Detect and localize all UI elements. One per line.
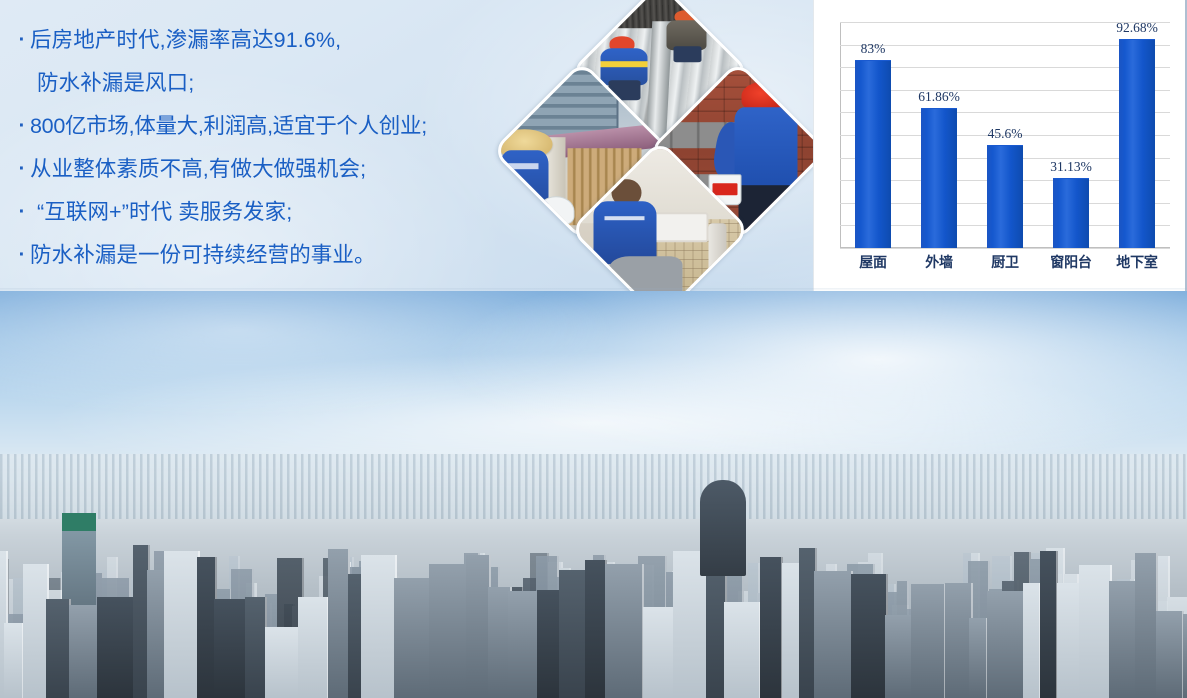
bar[interactable] [1119,39,1155,248]
building [987,591,1025,698]
building [394,578,432,698]
bullet-dot-icon: · [14,193,30,232]
building [643,607,676,698]
bar-value-label: 92.68% [1116,20,1158,36]
building [466,555,491,698]
building [559,570,588,698]
leak-rate-bar-chart: 83%61.86%45.6%31.13%92.68% 屋面外墙厨卫窗阳台地下室 [813,0,1187,291]
bullet-text: 从业整体素质不高,有做大做强机会; [30,150,366,189]
building [1040,551,1058,698]
building [814,571,853,698]
bar-series: 83%61.86%45.6%31.13%92.68% [840,22,1170,248]
building [1023,583,1041,698]
x-tick-label: 厨卫 [972,252,1038,272]
building [328,549,350,698]
bullet-text: 后房地产时代,渗漏率高达91.6%, [30,21,341,60]
x-axis-tick-labels: 屋面外墙厨卫窗阳台地下室 [840,252,1170,272]
building [265,627,300,698]
building [760,557,783,698]
building [605,564,644,698]
chart-plot-area: 83%61.86%45.6%31.13%92.68% [840,22,1170,248]
building [782,563,801,698]
bullet-spacer: · [14,64,30,103]
bar-value-label: 83% [861,41,886,57]
bar[interactable] [987,145,1023,248]
list-item-continuation: · 防水补漏是风口; [14,64,519,103]
bullet-dot-icon: · [14,236,30,275]
building [1135,553,1158,698]
bar-slot[interactable]: 45.6% [972,22,1038,248]
building [508,591,540,698]
bar-slot[interactable]: 92.68% [1104,22,1170,248]
skyline-near-layer [0,535,1187,698]
gridline [840,248,1170,249]
list-item: · 800亿市场,体量大,利润高,适宜于个人创业; [14,107,519,146]
bullet-text: 防水补漏是一份可持续经营的事业。 [30,236,376,275]
bullet-dot-icon: · [14,107,30,146]
building [361,555,396,698]
building [23,564,49,698]
list-item: · 从业整体素质不高,有做大做强机会; [14,150,519,189]
landmark-tower [700,480,746,576]
building [1156,611,1184,698]
list-item: · 防水补漏是一份可持续经营的事业。 [14,236,519,275]
bullet-list: · 后房地产时代,渗漏率高达91.6%, · 防水补漏是风口; · 800亿市场… [14,21,519,279]
building [97,597,135,698]
building [851,574,888,698]
bar-slot[interactable]: 31.13% [1038,22,1104,248]
bullet-text: 防水补漏是风口; [30,64,194,103]
building [164,551,200,698]
building [1183,614,1187,698]
building [46,599,71,698]
building [885,615,913,698]
bullet-dot-icon: · [14,150,30,189]
list-item: · “互联网+”时代 卖服务发家; [14,193,519,232]
photo-collage [508,2,813,290]
building [1109,581,1137,698]
bar-value-label: 45.6% [988,126,1023,142]
bar-value-label: 61.86% [918,89,960,105]
bullet-text: 800亿市场,体量大,利润高,适宜于个人创业; [30,107,427,146]
slide-canvas: · 后房地产时代,渗漏率高达91.6%, · 防水补漏是风口; · 800亿市场… [0,0,1187,698]
list-item: · 后房地产时代,渗漏率高达91.6%, [14,21,519,60]
bar[interactable] [855,60,891,248]
building [147,570,166,698]
bar-slot[interactable]: 83% [840,22,906,248]
bar[interactable] [1053,178,1089,248]
building [69,605,100,698]
bar[interactable] [921,108,957,248]
building [724,602,761,698]
building [969,618,988,698]
x-tick-label: 屋面 [840,252,906,272]
bullet-text: “互联网+”时代 卖服务发家; [30,193,292,232]
top-info-panel: · 后房地产时代,渗漏率高达91.6%, · 防水补漏是风口; · 800亿市场… [0,0,1187,291]
x-tick-label: 外墙 [906,252,972,272]
building [911,584,946,698]
building [4,623,24,698]
building [245,597,267,698]
building [298,597,329,698]
bar-value-label: 31.13% [1050,159,1092,175]
x-tick-label: 地下室 [1104,252,1170,272]
building [585,560,607,698]
x-tick-label: 窗阳台 [1038,252,1104,272]
bullet-dot-icon: · [14,21,30,60]
building [214,599,248,698]
bar-slot[interactable]: 61.86% [906,22,972,248]
city-skyline-photo [0,291,1187,698]
building [1079,565,1113,698]
building [429,564,468,698]
